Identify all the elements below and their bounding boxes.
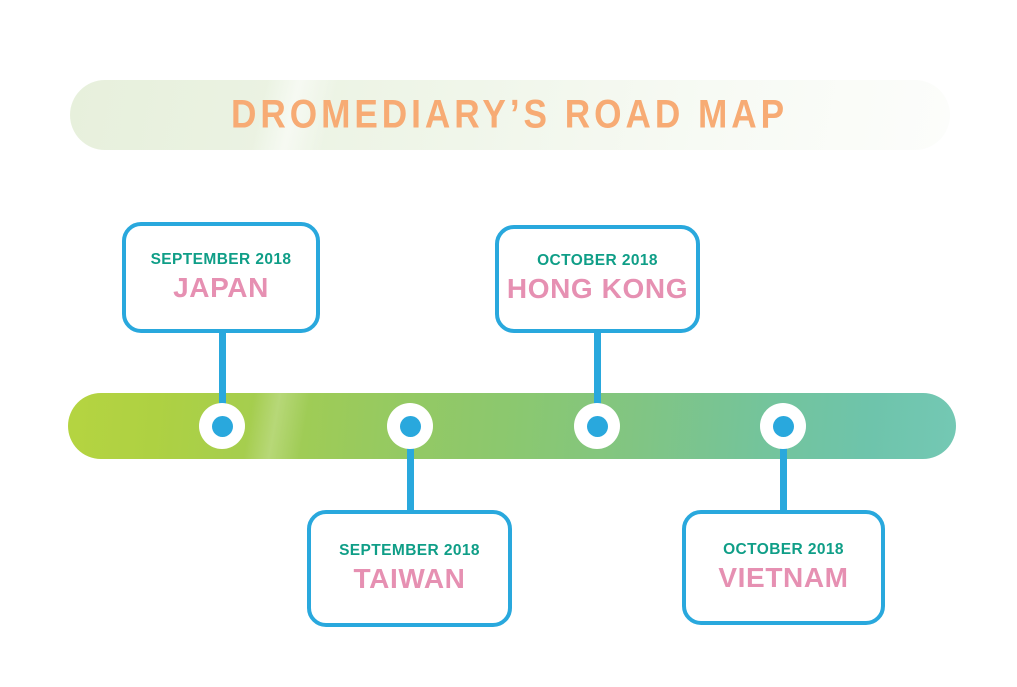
page-title: DROMEDIARY’S ROAD MAP [70, 93, 950, 138]
timeline-node-dot-icon [773, 416, 794, 437]
timeline-node-taiwan[interactable] [387, 403, 433, 449]
milestone-place-hong-kong: HONG KONG [507, 273, 688, 305]
milestone-date-hong-kong: OCTOBER 2018 [537, 252, 658, 269]
milestone-card-taiwan[interactable]: SEPTEMBER 2018 TAIWAN [307, 510, 512, 627]
title-banner: DROMEDIARY’S ROAD MAP [70, 80, 950, 150]
timeline-node-japan[interactable] [199, 403, 245, 449]
connector-stem-hong-kong [594, 333, 601, 413]
milestone-date-japan: SEPTEMBER 2018 [151, 251, 292, 268]
timeline-node-hong-kong[interactable] [574, 403, 620, 449]
connector-stem-japan [219, 333, 226, 413]
milestone-card-vietnam[interactable]: OCTOBER 2018 VIETNAM [682, 510, 885, 625]
timeline-node-dot-icon [212, 416, 233, 437]
milestone-date-taiwan: SEPTEMBER 2018 [339, 542, 480, 559]
timeline-node-vietnam[interactable] [760, 403, 806, 449]
milestone-card-japan[interactable]: SEPTEMBER 2018 JAPAN [122, 222, 320, 333]
timeline-bar-sheen-overlay [68, 393, 512, 459]
milestone-place-japan: JAPAN [173, 272, 269, 304]
roadmap-infographic: DROMEDIARY’S ROAD MAP SEPTEMBER 2018 JAP… [0, 0, 1017, 687]
page-title-text: DROMEDIARY’S ROAD MAP [231, 93, 788, 138]
milestone-place-taiwan: TAIWAN [354, 563, 466, 595]
milestone-date-vietnam: OCTOBER 2018 [723, 541, 844, 558]
timeline-node-dot-icon [400, 416, 421, 437]
timeline-node-dot-icon [587, 416, 608, 437]
milestone-place-vietnam: VIETNAM [718, 562, 848, 594]
milestone-card-hong-kong[interactable]: OCTOBER 2018 HONG KONG [495, 225, 700, 333]
